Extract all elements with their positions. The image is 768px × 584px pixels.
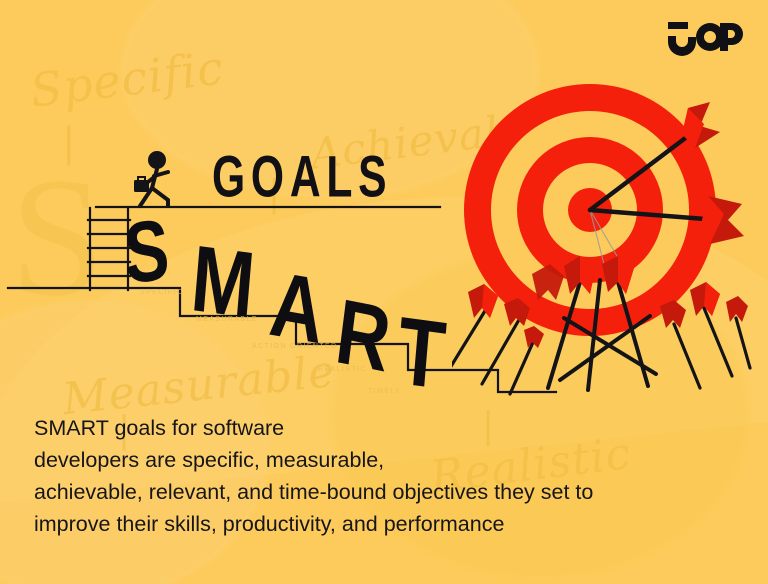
- smart-letter-a: A: [267, 268, 328, 350]
- body-line-2: developers are specific, measurable,: [34, 444, 734, 476]
- step-label-specific: SPECIFIC: [140, 289, 183, 296]
- step-label-action-oriented: ACTION ORIENTED: [252, 343, 338, 350]
- stick-figure-climber: [134, 151, 168, 206]
- smart-letter-s: S: [122, 216, 170, 289]
- body-line-3: achievable, relevant, and time-bound obj…: [34, 476, 734, 508]
- step-label-timely: TIMELY: [368, 388, 401, 395]
- climber-head: [148, 151, 166, 169]
- step-label-realistic: REALISTIC: [318, 366, 367, 373]
- briefcase-handle: [138, 177, 145, 180]
- briefcase-icon: [134, 180, 149, 192]
- body-line-4: improve their skills, productivity, and …: [34, 508, 734, 540]
- body-line-1: SMART goals for software: [34, 412, 734, 444]
- smart-letter-m: M: [189, 240, 258, 323]
- jop-logo[interactable]: [666, 20, 744, 56]
- body-copy: SMART goals for software developers are …: [34, 412, 734, 540]
- step-label-measurable: MEASURABLE: [196, 316, 258, 323]
- infographic-canvas: S Specific Achievable Measurable Realist…: [0, 0, 768, 584]
- archery-target-illustration: [452, 68, 752, 408]
- smart-letter-t: T: [395, 313, 448, 396]
